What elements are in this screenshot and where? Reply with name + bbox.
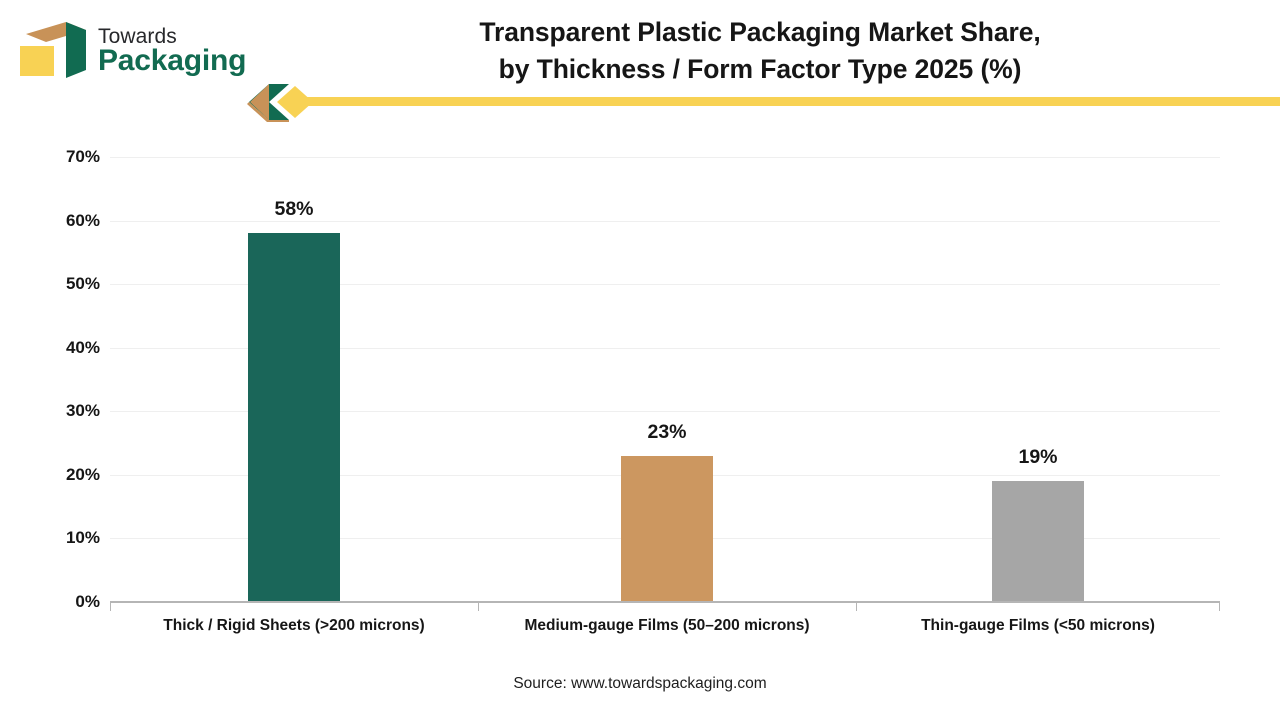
y-tick-label: 60% [38, 211, 100, 231]
bar-medium-gauge-films[interactable] [621, 456, 713, 602]
x-category-label-2: Thin-gauge Films (<50 microns) [856, 617, 1220, 635]
x-axis-tick [856, 602, 857, 611]
x-axis-line [110, 601, 1220, 603]
bar-chart: 70% 60% 50% 40% 30% 20% 10% 0% 58% 23% 1… [0, 0, 1280, 720]
bar-group-0[interactable]: 58% [110, 157, 478, 602]
y-tick-label: 30% [38, 401, 100, 421]
y-tick-label: 0% [38, 592, 100, 612]
x-axis-tick [1219, 602, 1220, 611]
y-tick-label: 10% [38, 528, 100, 548]
bar-thick-rigid-sheets[interactable] [248, 233, 340, 602]
x-axis-tick [110, 602, 111, 611]
bar-thin-gauge-films[interactable] [992, 481, 1084, 602]
y-tick-label: 70% [38, 147, 100, 167]
source-attribution: Source: www.towardspackaging.com [0, 675, 1280, 693]
bar-value-label: 58% [110, 198, 478, 221]
bar-group-1[interactable]: 23% [478, 157, 856, 602]
x-axis-tick [478, 602, 479, 611]
x-category-label-0: Thick / Rigid Sheets (>200 microns) [110, 617, 478, 635]
bar-group-2[interactable]: 19% [856, 157, 1220, 602]
bar-value-label: 19% [856, 446, 1220, 469]
y-tick-label: 40% [38, 338, 100, 358]
y-tick-label: 20% [38, 465, 100, 485]
bar-value-label: 23% [478, 421, 856, 444]
y-axis: 70% 60% 50% 40% 30% 20% 10% 0% [34, 0, 100, 720]
x-category-label-1: Medium-gauge Films (50–200 microns) [478, 617, 856, 635]
y-tick-label: 50% [38, 274, 100, 294]
